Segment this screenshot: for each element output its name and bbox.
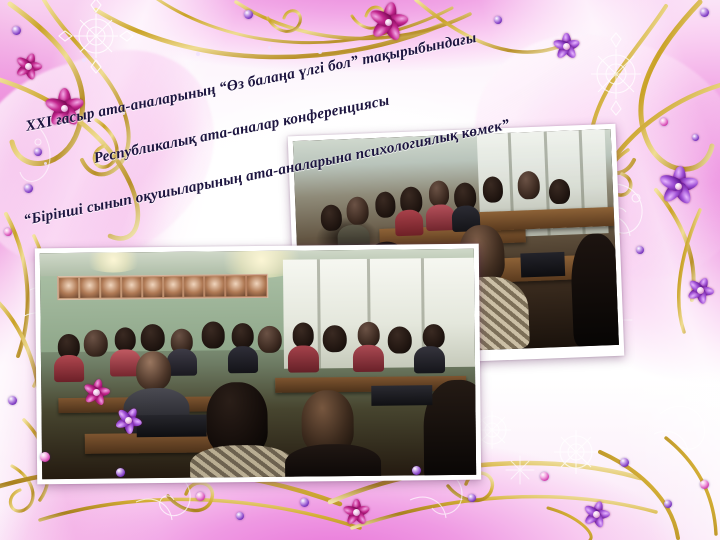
gem-bead: [196, 492, 205, 501]
gem-bead: [700, 480, 709, 489]
gem-bead: [300, 498, 309, 507]
sparkle-dot: [82, 58, 86, 62]
gem-bead: [660, 118, 668, 126]
gem-bead: [244, 10, 253, 19]
gem-bead: [412, 466, 421, 475]
gem-bead: [24, 184, 33, 193]
gem-bead: [12, 26, 21, 35]
gem-bead: [34, 148, 42, 156]
gem-bead: [494, 16, 502, 24]
sparkle-dot: [86, 206, 90, 210]
gem-bead: [620, 458, 629, 467]
poster-canvas: XXI ғасыр ата-аналарының “Өз балаңа үлгі…: [0, 0, 720, 540]
gem-bead: [636, 246, 644, 254]
sparkle-dot: [268, 46, 271, 49]
gem-bead: [700, 8, 709, 17]
sparkle-dot: [196, 52, 200, 56]
gem-bead: [468, 494, 476, 502]
gem-bead: [692, 134, 699, 141]
gem-bead: [4, 228, 12, 236]
sparkle-dot: [318, 50, 322, 54]
gem-bead: [540, 472, 549, 481]
gem-bead: [8, 396, 17, 405]
sparkle-dot: [44, 162, 47, 165]
gem-bead: [236, 512, 244, 520]
gem-bead: [664, 500, 672, 508]
jewel-decoration-layer: [0, 0, 720, 540]
sparkle-dot: [122, 112, 125, 115]
gem-bead: [40, 452, 50, 462]
gem-bead: [116, 468, 125, 477]
